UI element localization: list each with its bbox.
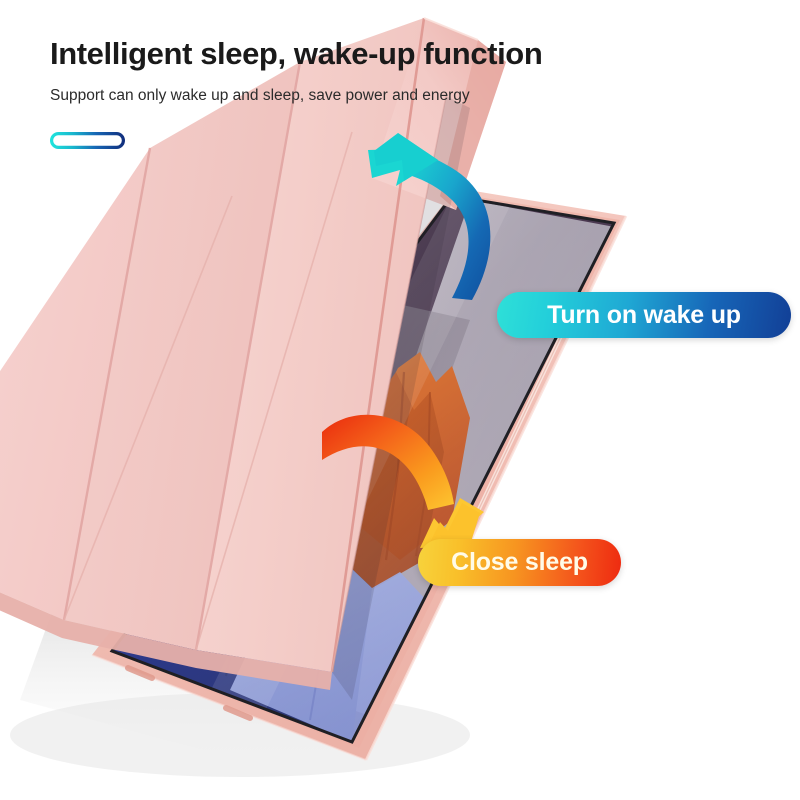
- badge-close-sleep-label: Close sleep: [451, 548, 588, 577]
- badge-turn-on-wake-up[interactable]: Turn on wake up: [497, 292, 791, 338]
- badge-turn-on-wake-up-label: Turn on wake up: [547, 301, 741, 330]
- page-subtitle: Support can only wake up and sleep, save…: [50, 87, 750, 105]
- product-marketing-banner: Intelligent sleep, wake-up function Supp…: [0, 0, 800, 800]
- page-title: Intelligent sleep, wake-up function: [50, 36, 750, 72]
- badge-close-sleep[interactable]: Close sleep: [418, 539, 621, 586]
- product-photo: [0, 0, 800, 800]
- gradient-pill-divider: [50, 132, 125, 149]
